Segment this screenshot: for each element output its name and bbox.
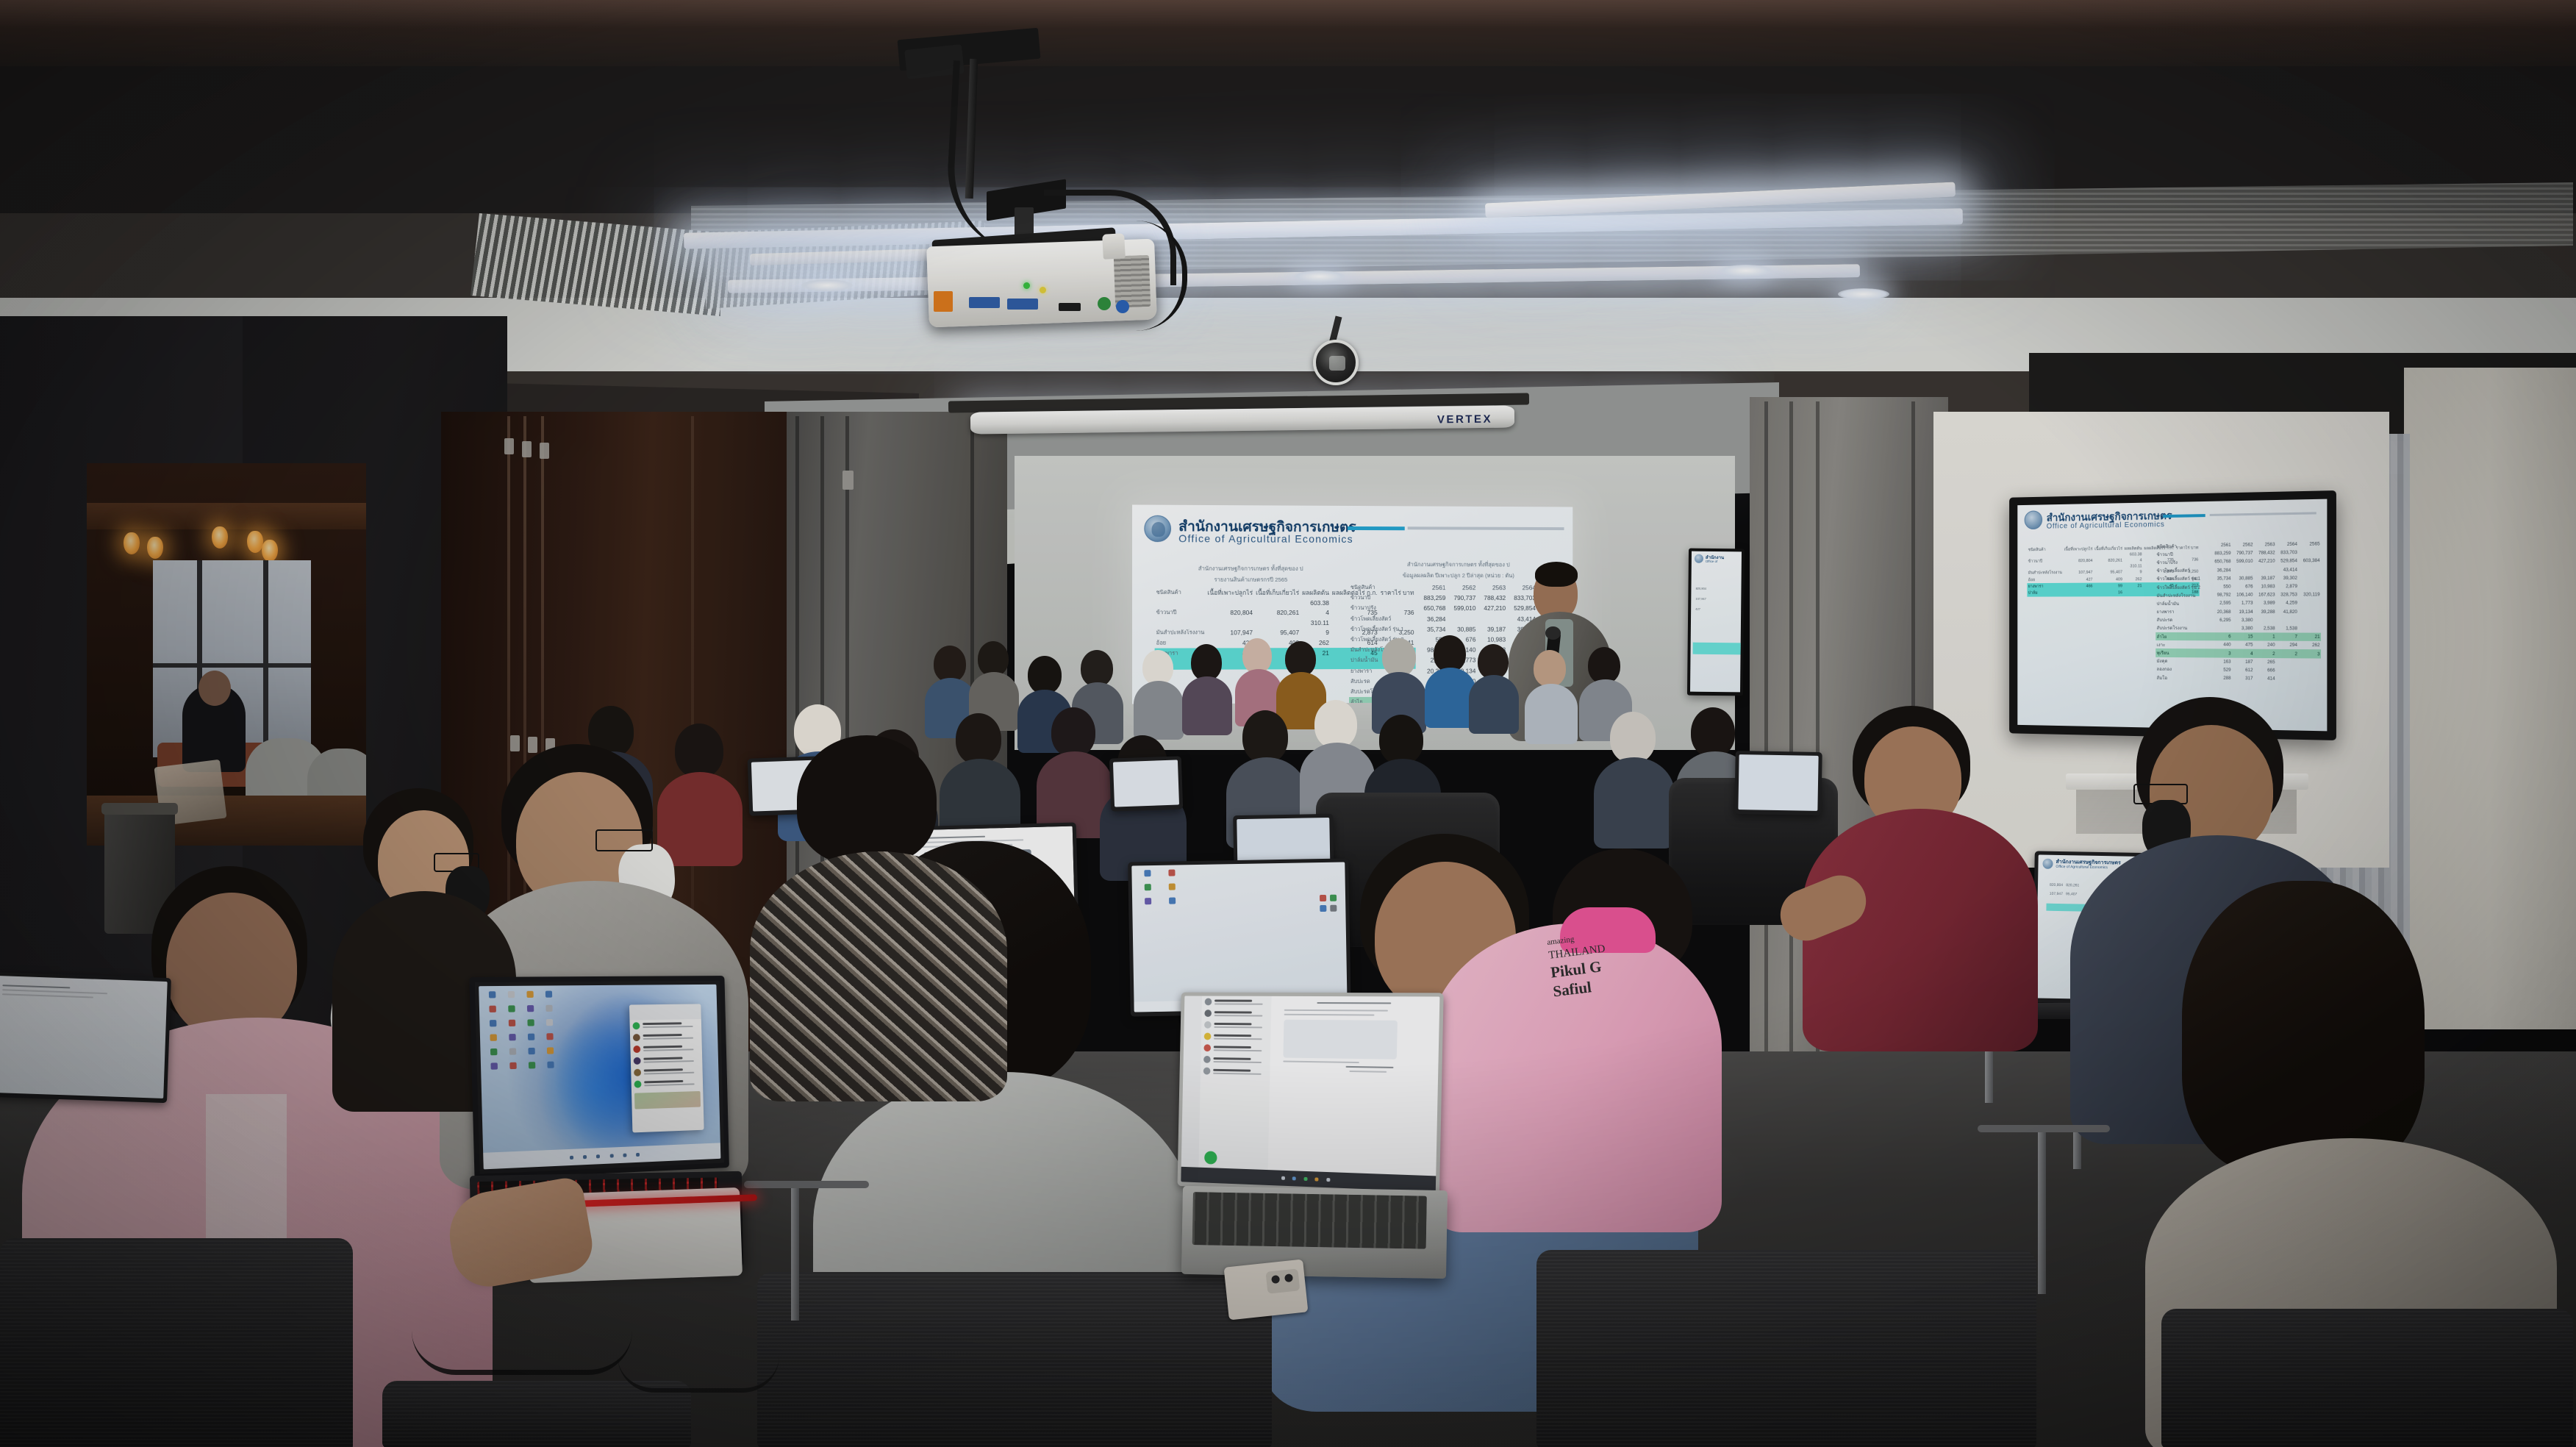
desktop-icon[interactable] [528, 1034, 534, 1040]
chat-name [1214, 1022, 1251, 1024]
chat-list-item[interactable] [1201, 1042, 1270, 1054]
table-cell: 9 [1300, 627, 1331, 637]
table-header-cell: ผลผลิตต้น [2123, 545, 2143, 551]
contact-avatar [1203, 1044, 1211, 1051]
table-header-cell: 2563 [1477, 582, 1507, 593]
floor-cable [618, 1341, 779, 1393]
contact-avatar [1204, 998, 1212, 1006]
table-row-label: ลองกอง [2155, 665, 2210, 674]
chat-conversation[interactable] [1267, 996, 1440, 1192]
taskbar-icon[interactable] [636, 1152, 640, 1156]
slide-right-caption-2: ข้อมูลผลผลิต ปีเพาะปลูก 2 ปีล่าสุด (หน่ว… [1349, 571, 1567, 579]
table-cell: 1,773 [2232, 599, 2254, 607]
table-cell: 2,879 [2276, 582, 2298, 591]
page-text-line [2, 985, 70, 988]
desktop-icon[interactable] [490, 1048, 498, 1055]
desktop-icon[interactable] [527, 1005, 534, 1012]
table-header-cell: ผลผลิตต้น [1300, 587, 1331, 599]
table-cell: 95,407 [1254, 627, 1300, 637]
table-cell: 4,259 [2276, 599, 2298, 607]
right-wall-panel [2404, 368, 2576, 1029]
table-cell: 790,737 [1447, 593, 1477, 603]
office-chair-back[interactable] [2161, 1309, 2573, 1447]
oae-logo-icon [2042, 859, 2053, 869]
table-cell: 676 [2232, 582, 2254, 590]
table-cell: 529,854 [2276, 557, 2298, 566]
office-chair-back[interactable] [757, 1272, 1272, 1447]
table-cell: 833,703 [2276, 549, 2298, 557]
slide-org-english: Office of Agricultural Economics [1178, 532, 1353, 545]
table-row-label [1155, 599, 1206, 607]
desktop-icon[interactable] [529, 1062, 535, 1068]
chat-name [644, 1080, 683, 1083]
desktop-icon[interactable] [546, 1019, 553, 1026]
table-row-label: ยางพารา [2155, 607, 2210, 615]
chat-snippet [1213, 1049, 1262, 1051]
chat-list-item[interactable] [1201, 1007, 1271, 1019]
taskbar-icon[interactable] [623, 1153, 626, 1157]
wall-mounted-tv: สำนักงานเศรษฐกิจการเกษตร Office of Agric… [2009, 490, 2336, 740]
laptop-screen[interactable] [1181, 996, 1439, 1191]
attendee-head [675, 723, 723, 778]
table-cell: 788,432 [2254, 549, 2276, 557]
table-cell: 21 [2123, 582, 2143, 589]
laptop-slide-org-english: Office of Agricultural Economics [2056, 865, 2108, 870]
desktop-icon[interactable] [490, 1035, 498, 1041]
ceiling-top-band [0, 0, 2576, 71]
table-cell: 35,734 [2210, 574, 2232, 582]
table-cell: 10,983 [1477, 635, 1507, 645]
chat-snippet [644, 1084, 694, 1087]
desktop-icon[interactable] [509, 1006, 515, 1012]
laptop-gaming[interactable] [469, 976, 729, 1179]
desktop-icon[interactable] [508, 991, 515, 998]
microphone-head-icon [1545, 626, 1561, 640]
chat-snippet [1213, 1072, 1262, 1074]
contact-avatar [1203, 1033, 1211, 1040]
desktop-icon[interactable] [490, 1006, 497, 1012]
desktop-icon[interactable] [490, 1020, 497, 1026]
table-cell: 6,295 [2210, 616, 2232, 624]
table-cell: 39,187 [2254, 574, 2276, 583]
table-row-label: ข้าวนาปรัง [1349, 603, 1417, 613]
desktop-icon[interactable] [1145, 898, 1151, 904]
projector-audio-port [1098, 297, 1111, 310]
attendee-body [657, 772, 743, 866]
table-cell: 2 [2254, 649, 2276, 658]
taskbar-icon[interactable] [596, 1154, 600, 1158]
edison-bulb-icon [147, 537, 163, 559]
attendee-head [1051, 707, 1095, 757]
attendee-head [1081, 650, 1113, 687]
attendee-head [956, 713, 1001, 765]
desktop-icon[interactable] [1144, 870, 1151, 876]
attendee-head [1242, 638, 1272, 674]
slide-accent-rule-secondary [1408, 526, 1564, 530]
partition-hinge-icon [540, 443, 549, 459]
laptop-screen[interactable] [1113, 760, 1179, 807]
taskbar-icon[interactable] [1303, 1177, 1307, 1181]
oae-logo-icon [1695, 554, 1703, 563]
table-row-label: ยางพารา [2027, 583, 2063, 590]
table-cell: 2,538 [2254, 624, 2276, 632]
table-cell: 43,414 [2276, 565, 2298, 574]
taskbar-icon[interactable] [1326, 1178, 1330, 1182]
tv-left-table: ชนิดสินค้าเนื้อที่เพาะปลูกไร่เนื้อที่เก็… [2027, 545, 2154, 596]
table-row: ข้าวโพดเลี้ยงสัตว์ รุ่น 255067610,9832,8… [2155, 582, 2321, 591]
table-cell [2298, 616, 2321, 624]
oae-logo-icon [1144, 515, 1171, 543]
table-row-label: ปาล์มน้ำมัน [2155, 599, 2210, 607]
recessed-light [1838, 288, 1889, 300]
attendee-body [1803, 809, 2038, 1051]
table-cell [2276, 616, 2298, 624]
contact-avatar [1203, 1056, 1211, 1063]
table-header-cell: ชนิดสินค้า [1155, 587, 1206, 599]
line-window-titlebar[interactable] [629, 1004, 701, 1020]
edison-bulb-icon [124, 532, 140, 554]
table-cell: 612 [2232, 666, 2254, 675]
table-cell: 163 [2210, 657, 2232, 666]
partition-hinge-icon [528, 737, 537, 753]
table-cell: 20,368 [2210, 607, 2232, 615]
table-cell: 3,989 [2254, 599, 2276, 607]
laptop-screen[interactable] [479, 985, 720, 1170]
desktop-icons [484, 991, 562, 1146]
laptop-screen[interactable] [1131, 862, 1347, 1012]
table-cell [2298, 607, 2321, 615]
chat-snippet [643, 1037, 694, 1040]
attendee-body [1469, 675, 1519, 734]
table-cell: 187 [2232, 657, 2254, 666]
projector-focus-knob[interactable] [1102, 233, 1126, 260]
chat-list-item[interactable] [1200, 1065, 1270, 1078]
chat-list-item[interactable] [1201, 1054, 1270, 1066]
conversation-title [1317, 1002, 1392, 1004]
desktop-icon[interactable] [1168, 869, 1175, 876]
attendee-head [1534, 650, 1566, 687]
table-cell: 39,302 [2276, 574, 2298, 582]
lounge-person-head [198, 671, 231, 706]
floor-cable [412, 1309, 632, 1375]
table-cell [2298, 565, 2321, 574]
table-cell [1254, 599, 1300, 607]
table-cell: 30,885 [2232, 574, 2254, 583]
attendee-head [1242, 710, 1288, 763]
table-cell: 820,804 [1206, 607, 1254, 618]
attendee-head [1478, 644, 1509, 679]
table-row-label: สับปะรด [2155, 616, 2210, 624]
chat-name [1213, 1057, 1251, 1060]
table-cell: 529 [2210, 665, 2232, 674]
partition-hinge-icon [522, 441, 532, 457]
table-cell [2298, 624, 2321, 633]
table-cell: 21 [2298, 633, 2321, 642]
table-header-cell: ชนิดสินค้า [2155, 541, 2210, 550]
table-cell [2123, 589, 2143, 596]
table-cell: 427,210 [2254, 557, 2276, 566]
laptop-slide-row: 820,804 820,261 [2050, 883, 2079, 888]
table-cell: 107,947 [1206, 627, 1254, 637]
message-line [1346, 1066, 1394, 1068]
table-row-label: มันสำปะหลังโรงงาน [2155, 591, 2210, 599]
table-cell [2298, 574, 2321, 582]
chat-preview [643, 1045, 699, 1051]
taskbar-icon[interactable] [1292, 1176, 1296, 1180]
chat-snippet [644, 1060, 695, 1063]
table-row-label: ข้าวนาปี [1349, 593, 1417, 603]
chair-armrest [1978, 1125, 2110, 1132]
attendee-head [1434, 635, 1466, 672]
laptop-screen[interactable] [0, 976, 168, 1098]
laptop[interactable] [1734, 751, 1822, 815]
table-cell: 820,261 [1254, 607, 1300, 618]
chat-preview [1214, 1034, 1267, 1040]
projector-lamp-led [1040, 287, 1046, 293]
table-cell: 883,259 [2210, 549, 2232, 558]
partition-seam [1789, 401, 1793, 1100]
tv-right-table: ชนิดสินค้า25612562256325642565ข้าวนาปี88… [2155, 540, 2321, 683]
tv-org-english: Office of Agricultural Economics [2047, 521, 2165, 530]
table-cell: 666 [2254, 666, 2276, 675]
line-chat-window[interactable] [629, 1004, 704, 1132]
table-cell: 414 [2254, 674, 2276, 683]
contact-avatar [633, 1046, 640, 1053]
presenter-hair [1535, 562, 1578, 587]
table-row-label: ข้าวนาปี [2027, 558, 2063, 565]
table-cell [2276, 658, 2298, 667]
table-row-label: ข้าวโพดเลี้ยงสัตว์ รุ่น 2 [2155, 583, 2210, 592]
laptop-base[interactable] [1181, 1186, 1448, 1279]
table-cell: 107,947 [2063, 570, 2094, 576]
table-cell: 466 [2063, 583, 2094, 590]
taskbar-icon[interactable] [583, 1155, 587, 1159]
projector-vga-port [969, 297, 1000, 308]
desktop-icon[interactable] [1168, 883, 1175, 890]
chat-list-item[interactable] [1201, 1031, 1270, 1043]
add-contact-button[interactable] [1204, 1151, 1217, 1164]
desktop-icon[interactable] [528, 1020, 534, 1026]
table-cell [1254, 618, 1300, 627]
office-chair-back[interactable] [1536, 1250, 2036, 1447]
chat-snippet [643, 1049, 694, 1051]
table-cell: 475 [2232, 641, 2254, 649]
table-row: สับปะรด6,2953,380 [2155, 616, 2321, 625]
table-cell [2254, 565, 2276, 574]
table-cell: 4 [1300, 607, 1331, 618]
table-cell: 529,854 [1507, 603, 1537, 613]
message-line [1284, 1014, 1374, 1016]
message-line [1283, 1060, 1359, 1063]
table-cell: 262 [2123, 576, 2143, 582]
table-cell [1206, 618, 1254, 627]
chat-snippet [1214, 1026, 1262, 1028]
contact-avatar [1204, 1021, 1212, 1029]
laptop-silver[interactable] [1177, 993, 1443, 1197]
side-monitor-row: 820,804 [1695, 587, 1706, 590]
table-cell [2298, 666, 2321, 675]
desktop-icon[interactable] [1144, 884, 1151, 890]
table-row-label [1155, 618, 1206, 627]
table-row-label: ข้าวโพดเลี้ยงสัตว์ รุ่น 1 [2155, 574, 2210, 583]
chat-preview [1213, 1046, 1267, 1051]
table-cell: 3,380 [2232, 616, 2254, 624]
chair-armrest [744, 1181, 869, 1188]
laptop[interactable] [1109, 756, 1183, 811]
taskbar-icon[interactable] [1314, 1178, 1318, 1182]
side-lounge-area [87, 463, 366, 846]
table-row: มันสำปะหลังโรงงาน98,792106,140167,623328… [2155, 590, 2321, 599]
chat-snippet [1214, 1003, 1263, 1004]
desktop-icon[interactable] [509, 1048, 516, 1055]
laptop-screen[interactable] [1738, 754, 1818, 811]
desktop-icon[interactable] [547, 1048, 554, 1054]
chat-name [643, 1023, 681, 1026]
chat-name [643, 1034, 682, 1037]
table-row-label: มันสำปะหลังโรงงาน [2027, 570, 2063, 576]
chat-snippet [1214, 1037, 1262, 1040]
office-chair-back[interactable] [0, 1238, 353, 1447]
message-line [1284, 1010, 1387, 1012]
table-row-label: มันสำปะหลังโรงงาน [1155, 627, 1206, 637]
chair-post [2038, 1132, 2046, 1294]
table-cell [2276, 666, 2298, 675]
table-cell: 328,753 [2276, 590, 2298, 599]
desktop-icon[interactable] [489, 991, 496, 998]
attendee-body [1134, 681, 1184, 740]
table-cell: 19,134 [2232, 607, 2254, 615]
desktop-icon[interactable] [509, 1034, 516, 1040]
table-cell: 440 [2210, 641, 2232, 649]
chat-list-item[interactable] [632, 1076, 704, 1090]
chat-image-thumbnail[interactable] [634, 1091, 701, 1110]
table-cell: 3,380 [2232, 624, 2254, 632]
table-row-label: ข้าวนาปี [1155, 607, 1206, 618]
desktop-icon[interactable] [546, 1005, 553, 1012]
attendee-body [1525, 684, 1578, 744]
table-cell: 320,119 [2298, 590, 2321, 599]
shirt-text-line3: Pikul G [1550, 957, 1603, 981]
taskbar-icon[interactable] [609, 1154, 613, 1157]
table-cell [1477, 613, 1507, 624]
chat-list-item[interactable] [630, 1019, 702, 1032]
partition-hinge-icon [510, 735, 520, 751]
chat-name [1214, 1011, 1251, 1013]
tv-accent-rule [2163, 514, 2205, 518]
laptop[interactable] [0, 972, 171, 1103]
table-cell: 167,623 [2254, 590, 2276, 599]
waste-bin-lid [101, 803, 178, 815]
table-cell: 599,010 [2232, 557, 2254, 566]
table-cell: 98,792 [2210, 591, 2232, 599]
table-cell: 603.38 [2123, 552, 2143, 557]
table-row-label: ปาล์ม [2027, 590, 2063, 596]
table-cell [1447, 613, 1477, 624]
desktop-icon[interactable] [491, 1063, 498, 1070]
table-header-cell: ชนิดสินค้า [1349, 582, 1417, 593]
table-cell: 2 [2276, 649, 2298, 658]
chat-preview [1213, 1057, 1267, 1063]
attendee-head [1142, 650, 1173, 685]
chat-preview [643, 1034, 699, 1040]
chat-list[interactable] [1198, 996, 1271, 1185]
taskbar-icon[interactable] [1281, 1176, 1284, 1180]
side-monitor-row: 427 [1695, 607, 1700, 611]
attendee-hair [2182, 881, 2425, 1175]
smartphone[interactable] [1224, 1260, 1309, 1321]
table-row-label: ข้าวนาปรัง [2155, 558, 2210, 567]
table-cell: 3 [2210, 649, 2232, 657]
chat-snippet [1213, 1061, 1262, 1063]
attendee-hair [797, 735, 937, 865]
attendee-head [978, 641, 1009, 676]
tv-accent-rule-secondary [2210, 512, 2316, 516]
chat-preview [1213, 1068, 1267, 1074]
table-cell [2254, 616, 2276, 624]
table-cell: 1,538 [2276, 624, 2298, 632]
projector-vga-port [1007, 299, 1038, 310]
edison-bulb-icon [262, 540, 278, 562]
side-monitor-row: 107,947 [1695, 597, 1706, 601]
laptop-slide-row: 107,947 95,407 [2050, 892, 2078, 897]
chat-name [644, 1068, 683, 1071]
attendee-head [1191, 644, 1222, 681]
chat-preview [1214, 999, 1268, 1004]
attendee-body [750, 851, 1007, 1101]
desktop-icon[interactable] [509, 1020, 515, 1026]
chat-preview [1214, 1011, 1267, 1016]
table-cell: 820,261 [2094, 557, 2124, 564]
laptop-keyboard[interactable] [1192, 1192, 1427, 1249]
chat-list-item[interactable] [1201, 996, 1271, 1008]
table-cell: 265 [2254, 657, 2276, 666]
chat-preview [644, 1068, 700, 1075]
table-header-cell: 2562 [1447, 582, 1477, 593]
desktop-icon[interactable] [548, 1062, 554, 1068]
table-cell: 99 [2094, 582, 2124, 589]
desktop-icon[interactable] [1169, 897, 1176, 904]
slide-left-caption-2: รายงานสินค้าเกษตรกรปี 2565 [1155, 576, 1346, 584]
desktop-icon[interactable] [545, 991, 552, 998]
chat-preview [1214, 1022, 1267, 1028]
desktop-icon[interactable] [510, 1062, 517, 1069]
recessed-light [801, 279, 853, 291]
desktop-icon[interactable] [529, 1048, 535, 1054]
table-cell: 427,210 [1477, 603, 1507, 613]
table-cell: 2,595 [2210, 599, 2232, 607]
desktop-icon[interactable] [527, 991, 534, 998]
attendee-body [1182, 676, 1232, 735]
table-cell: 9 [2123, 569, 2143, 576]
table-header-cell: 2565 [2298, 540, 2321, 549]
table-cell: 603,384 [2298, 557, 2321, 565]
table-cell: 39,187 [1477, 624, 1507, 635]
table-row-label: ลำไย [2155, 632, 2210, 640]
table-cell: 16 [2094, 590, 2124, 596]
table-cell: 36,284 [2210, 566, 2232, 575]
table-cell [1206, 599, 1254, 607]
desktop-icon[interactable] [547, 1033, 554, 1040]
table-cell: 35,734 [1417, 624, 1447, 635]
taskbar-icon-start[interactable] [570, 1155, 573, 1159]
table-cell: 650,768 [2210, 557, 2232, 566]
vertex-brand-label: VERTEX [1437, 413, 1492, 426]
table-cell: 317 [2232, 674, 2254, 683]
chat-preview [644, 1079, 700, 1086]
table-header-cell: เนื้อที่เพาะปลูกไร่ [2063, 546, 2094, 553]
attendee-head [1382, 638, 1416, 676]
chat-list-item[interactable] [1201, 1019, 1271, 1032]
